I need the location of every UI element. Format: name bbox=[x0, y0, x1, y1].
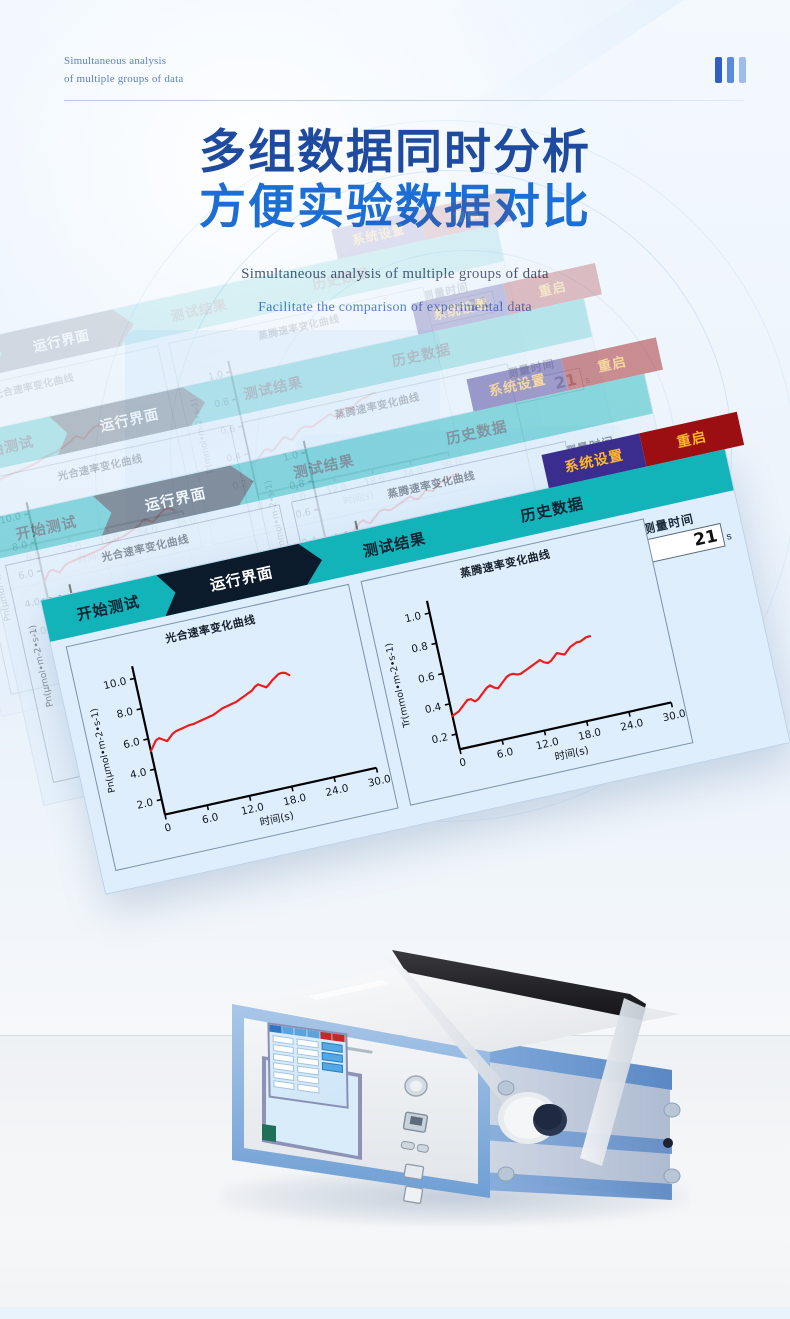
svg-text:12.0: 12.0 bbox=[240, 801, 265, 818]
device-screen-button[interactable] bbox=[321, 1052, 342, 1063]
hero-title-line1: 多组数据同时分析 bbox=[0, 125, 790, 180]
device-photo bbox=[210, 928, 710, 1228]
device-screen-button[interactable] bbox=[321, 1042, 342, 1053]
chart-series-line bbox=[442, 636, 600, 716]
svg-text:24.0: 24.0 bbox=[324, 782, 349, 799]
svg-text:30.0: 30.0 bbox=[367, 773, 392, 790]
header-divider bbox=[64, 100, 744, 101]
svg-text:0: 0 bbox=[163, 822, 172, 835]
bar-chart-icon bbox=[715, 57, 746, 83]
svg-text:8.0: 8.0 bbox=[116, 706, 135, 721]
header-eyebrow-line1: Simultaneous analysis bbox=[64, 52, 183, 70]
svg-text:18.0: 18.0 bbox=[577, 726, 602, 743]
svg-text:18.0: 18.0 bbox=[282, 792, 307, 809]
svg-text:24.0: 24.0 bbox=[619, 717, 644, 734]
device-screen-column bbox=[297, 1038, 319, 1093]
device-screen-field[interactable] bbox=[273, 1080, 294, 1090]
svg-text:10.0: 10.0 bbox=[102, 675, 127, 692]
page-header: Simultaneous analysis of multiple groups… bbox=[0, 0, 790, 120]
device-screen-column bbox=[321, 1042, 343, 1097]
svg-text:12.0: 12.0 bbox=[535, 736, 560, 753]
svg-text:0.6: 0.6 bbox=[417, 671, 436, 686]
bar-chart-icon-bar bbox=[727, 57, 734, 83]
device-screen-button[interactable] bbox=[322, 1062, 343, 1073]
header-eyebrow: Simultaneous analysis of multiple groups… bbox=[64, 52, 183, 88]
svg-text:30.0: 30.0 bbox=[662, 708, 687, 725]
svg-text:Tr(mmol•m-2•s-1): Tr(mmol•m-2•s-1) bbox=[384, 642, 414, 730]
page-root: Simultaneous analysis of multiple groups… bbox=[0, 0, 790, 1319]
bar-chart-icon-bar bbox=[739, 57, 746, 83]
bar-chart-icon-bar bbox=[715, 57, 722, 83]
svg-text:6.0: 6.0 bbox=[122, 736, 141, 751]
svg-text:4.0: 4.0 bbox=[129, 766, 148, 781]
device-screen-body bbox=[270, 1032, 347, 1101]
background-bottom-strip bbox=[0, 1307, 790, 1319]
svg-text:0: 0 bbox=[458, 756, 467, 769]
svg-text:0.8: 0.8 bbox=[410, 640, 429, 655]
device-touchscreen[interactable] bbox=[267, 1022, 348, 1108]
svg-text:0.2: 0.2 bbox=[431, 731, 450, 746]
chart-series-line bbox=[141, 671, 299, 751]
svg-text:2.0: 2.0 bbox=[136, 797, 155, 812]
header-eyebrow-line2: of multiple groups of data bbox=[64, 70, 183, 88]
measure-time-unit: s bbox=[726, 531, 734, 546]
device-screen-field[interactable] bbox=[298, 1084, 319, 1094]
svg-text:Pn(μmol•m-2•s-1): Pn(μmol•m-2•s-1) bbox=[89, 707, 118, 794]
svg-text:6.0: 6.0 bbox=[201, 811, 220, 826]
device-screen-column bbox=[273, 1035, 295, 1090]
svg-text:0.4: 0.4 bbox=[424, 701, 443, 716]
svg-text:1.0: 1.0 bbox=[404, 610, 423, 625]
svg-text:6.0: 6.0 bbox=[496, 746, 515, 761]
